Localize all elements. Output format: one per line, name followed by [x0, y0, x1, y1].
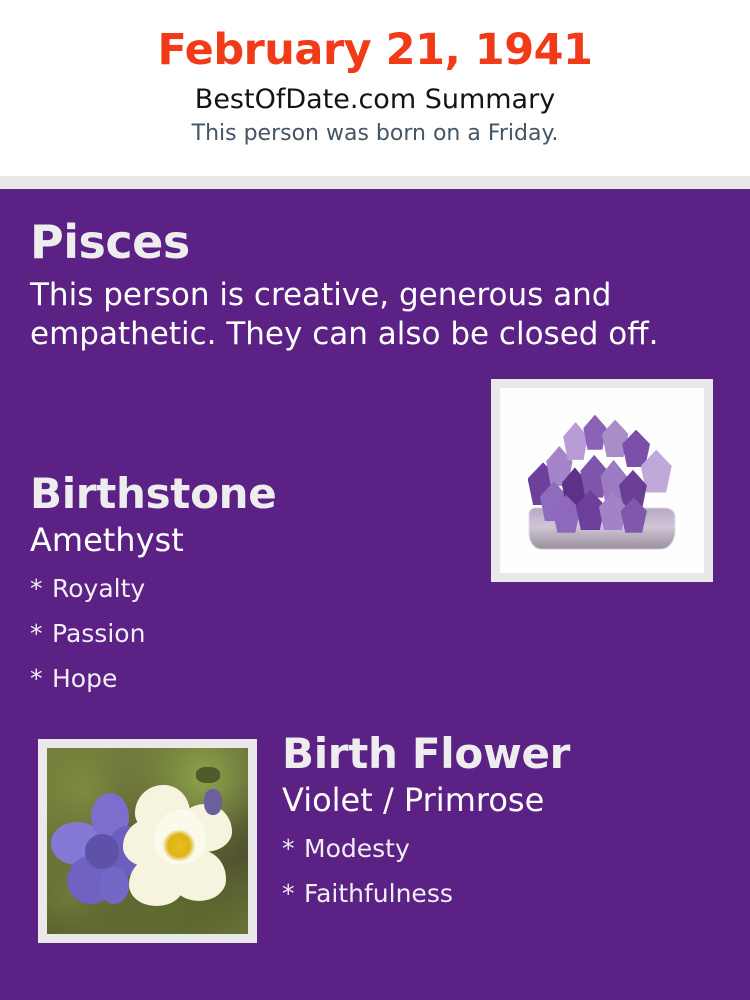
birthflower-image-frame	[38, 739, 257, 943]
flower-bud	[196, 767, 220, 784]
trait-label: Hope	[52, 664, 117, 693]
birthstone-trait-list: *Royalty *Passion *Hope	[30, 560, 460, 701]
content-panel: Pisces This person is creative, generous…	[0, 189, 750, 1000]
violet-petal	[99, 867, 129, 904]
site-name: BestOfDate.com Summary	[0, 76, 750, 116]
amethyst-crystal-illustration	[500, 388, 704, 573]
bullet-star-icon: *	[282, 871, 304, 916]
birthflower-text-block: Birth Flower Violet / Primrose *Modesty …	[282, 729, 722, 916]
trait-label: Faithfulness	[304, 879, 453, 908]
bullet-star-icon: *	[30, 656, 52, 701]
birthstone-title: Birthstone	[30, 469, 460, 519]
violet-primrose-illustration	[47, 748, 248, 934]
list-item: *Faithfulness	[282, 871, 722, 916]
violet-petal	[85, 834, 119, 869]
bullet-star-icon: *	[282, 826, 304, 871]
birthflower-image	[47, 748, 248, 934]
list-item: *Hope	[30, 656, 460, 701]
crystal-cluster	[524, 412, 679, 538]
page-title-date: February 21, 1941	[0, 0, 750, 76]
trait-label: Passion	[52, 619, 145, 648]
header: February 21, 1941 BestOfDate.com Summary…	[0, 0, 750, 176]
birthflower-trait-list: *Modesty *Faithfulness	[282, 820, 722, 916]
header-divider	[0, 176, 750, 189]
trait-label: Modesty	[304, 834, 410, 863]
list-item: *Passion	[30, 611, 460, 656]
bullet-star-icon: *	[30, 566, 52, 611]
birth-day-note: This person was born on a Friday.	[0, 116, 750, 148]
trait-label: Royalty	[52, 574, 145, 603]
crystal-facet	[583, 415, 606, 450]
zodiac-description: This person is creative, generous and em…	[30, 270, 698, 354]
infographic-card: February 21, 1941 BestOfDate.com Summary…	[0, 0, 750, 1000]
birthstone-name: Amethyst	[30, 519, 460, 560]
zodiac-section: Pisces This person is creative, generous…	[30, 214, 720, 354]
birthflower-name: Violet / Primrose	[282, 779, 722, 820]
birthstone-image-frame	[491, 379, 713, 582]
birthstone-text-block: Birthstone Amethyst *Royalty *Passion *H…	[30, 469, 460, 701]
zodiac-sign-title: Pisces	[30, 214, 720, 270]
birthstone-image	[500, 388, 704, 573]
list-item: *Royalty	[30, 566, 460, 611]
primrose-center	[162, 830, 196, 862]
list-item: *Modesty	[282, 826, 722, 871]
bullet-star-icon: *	[30, 611, 52, 656]
birthflower-title: Birth Flower	[282, 729, 722, 779]
flower-bud	[204, 789, 222, 815]
